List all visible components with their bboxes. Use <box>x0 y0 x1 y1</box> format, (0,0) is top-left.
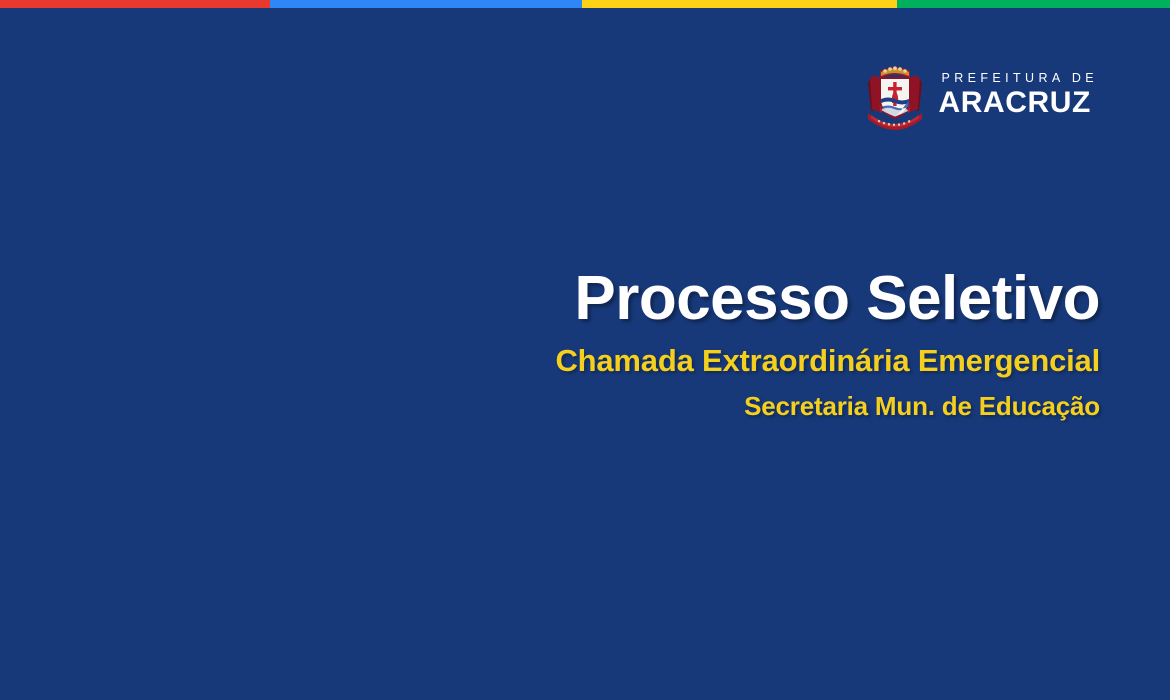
prefecture-label: PREFEITURA DE <box>938 72 1098 85</box>
page-subtitle-secondary: Secretaria Mun. de Educação <box>280 393 1100 419</box>
brand-lockup: PREFEITURA DE ARACRUZ <box>866 59 1098 131</box>
top-accent-bar <box>0 0 1170 8</box>
city-name-label: ARACRUZ <box>938 88 1091 118</box>
slide-root: { "page": { "background_color": "#17397a… <box>0 0 1170 700</box>
accent-segment-green <box>897 0 1170 8</box>
aracruz-coat-of-arms-icon <box>866 59 924 131</box>
headline-block: Processo Seletivo Chamada Extraordinária… <box>280 268 1100 419</box>
accent-segment-blue <box>270 0 582 8</box>
brand-text-block: PREFEITURA DE ARACRUZ <box>938 72 1098 119</box>
page-title: Processo Seletivo <box>280 268 1100 330</box>
accent-segment-yellow <box>582 0 897 8</box>
page-subtitle-primary: Chamada Extraordinária Emergencial <box>280 345 1100 376</box>
accent-segment-red <box>0 0 270 8</box>
